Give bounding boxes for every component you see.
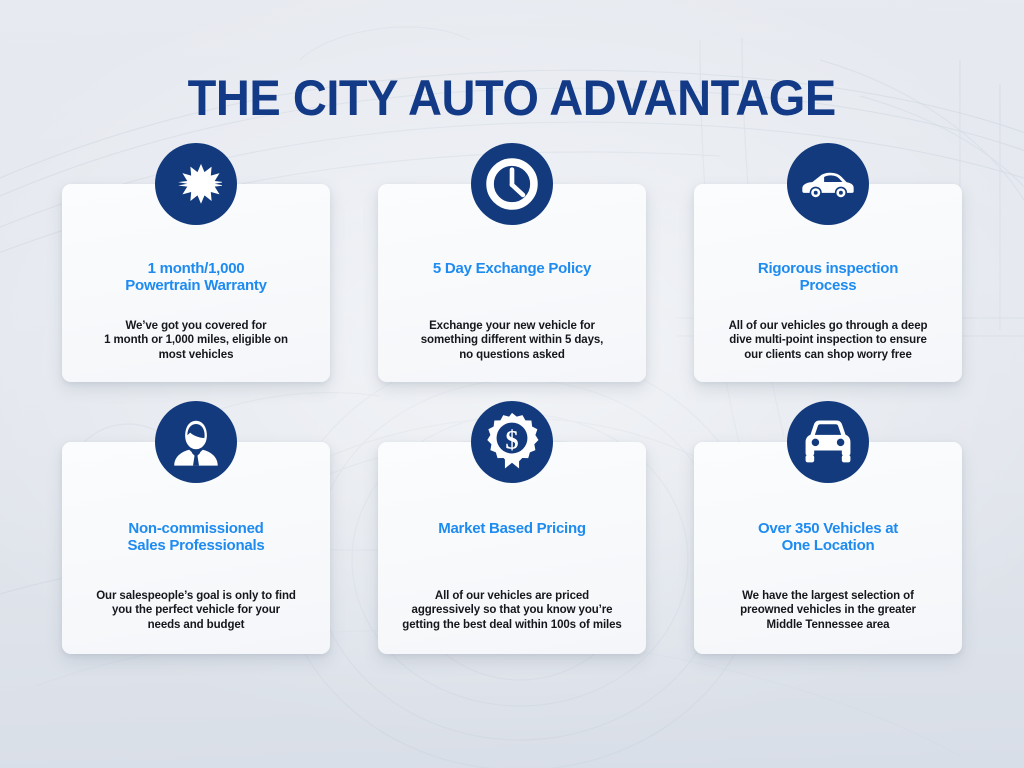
- advantage-card-grid: 1 month/1,000 Powertrain Warranty We’ve …: [52, 184, 972, 654]
- card-body: All of our vehicles go through a deep di…: [729, 319, 928, 363]
- advantage-card: $ Market Based Pricing All of our vehicl…: [378, 442, 646, 654]
- card-title: Over 350 Vehicles at One Location: [758, 520, 898, 554]
- card-body: We’ve got you covered for 1 month or 1,0…: [104, 319, 288, 363]
- card-title: Non-commissioned Sales Professionals: [128, 520, 265, 554]
- clock-icon: [471, 143, 553, 225]
- advantage-card: Rigorous inspection Process All of our v…: [694, 184, 962, 382]
- card-body: All of our vehicles are priced aggressiv…: [402, 589, 621, 633]
- card-title: Rigorous inspection Process: [758, 260, 898, 294]
- advantage-card: 1 month/1,000 Powertrain Warranty We’ve …: [62, 184, 330, 382]
- advantage-card: Non-commissioned Sales Professionals Our…: [62, 442, 330, 654]
- card-body: We have the largest selection of preowne…: [740, 589, 916, 633]
- card-title: Market Based Pricing: [438, 520, 586, 537]
- car-side-icon: [787, 143, 869, 225]
- svg-text:$: $: [505, 425, 518, 455]
- salesperson-icon: [155, 401, 237, 483]
- advantage-card: Over 350 Vehicles at One Location We hav…: [694, 442, 962, 654]
- card-title: 5 Day Exchange Policy: [433, 260, 591, 277]
- page-title: THE CITY AUTO ADVANTAGE: [188, 70, 836, 126]
- card-body: Our salespeople’s goal is only to find y…: [96, 589, 296, 633]
- dollar-badge-icon: $: [471, 401, 553, 483]
- card-title: 1 month/1,000 Powertrain Warranty: [125, 260, 266, 294]
- car-front-icon: [787, 401, 869, 483]
- card-body: Exchange your new vehicle for something …: [421, 319, 604, 363]
- starburst-icon: [155, 143, 237, 225]
- advantage-card: 5 Day Exchange Policy Exchange your new …: [378, 184, 646, 382]
